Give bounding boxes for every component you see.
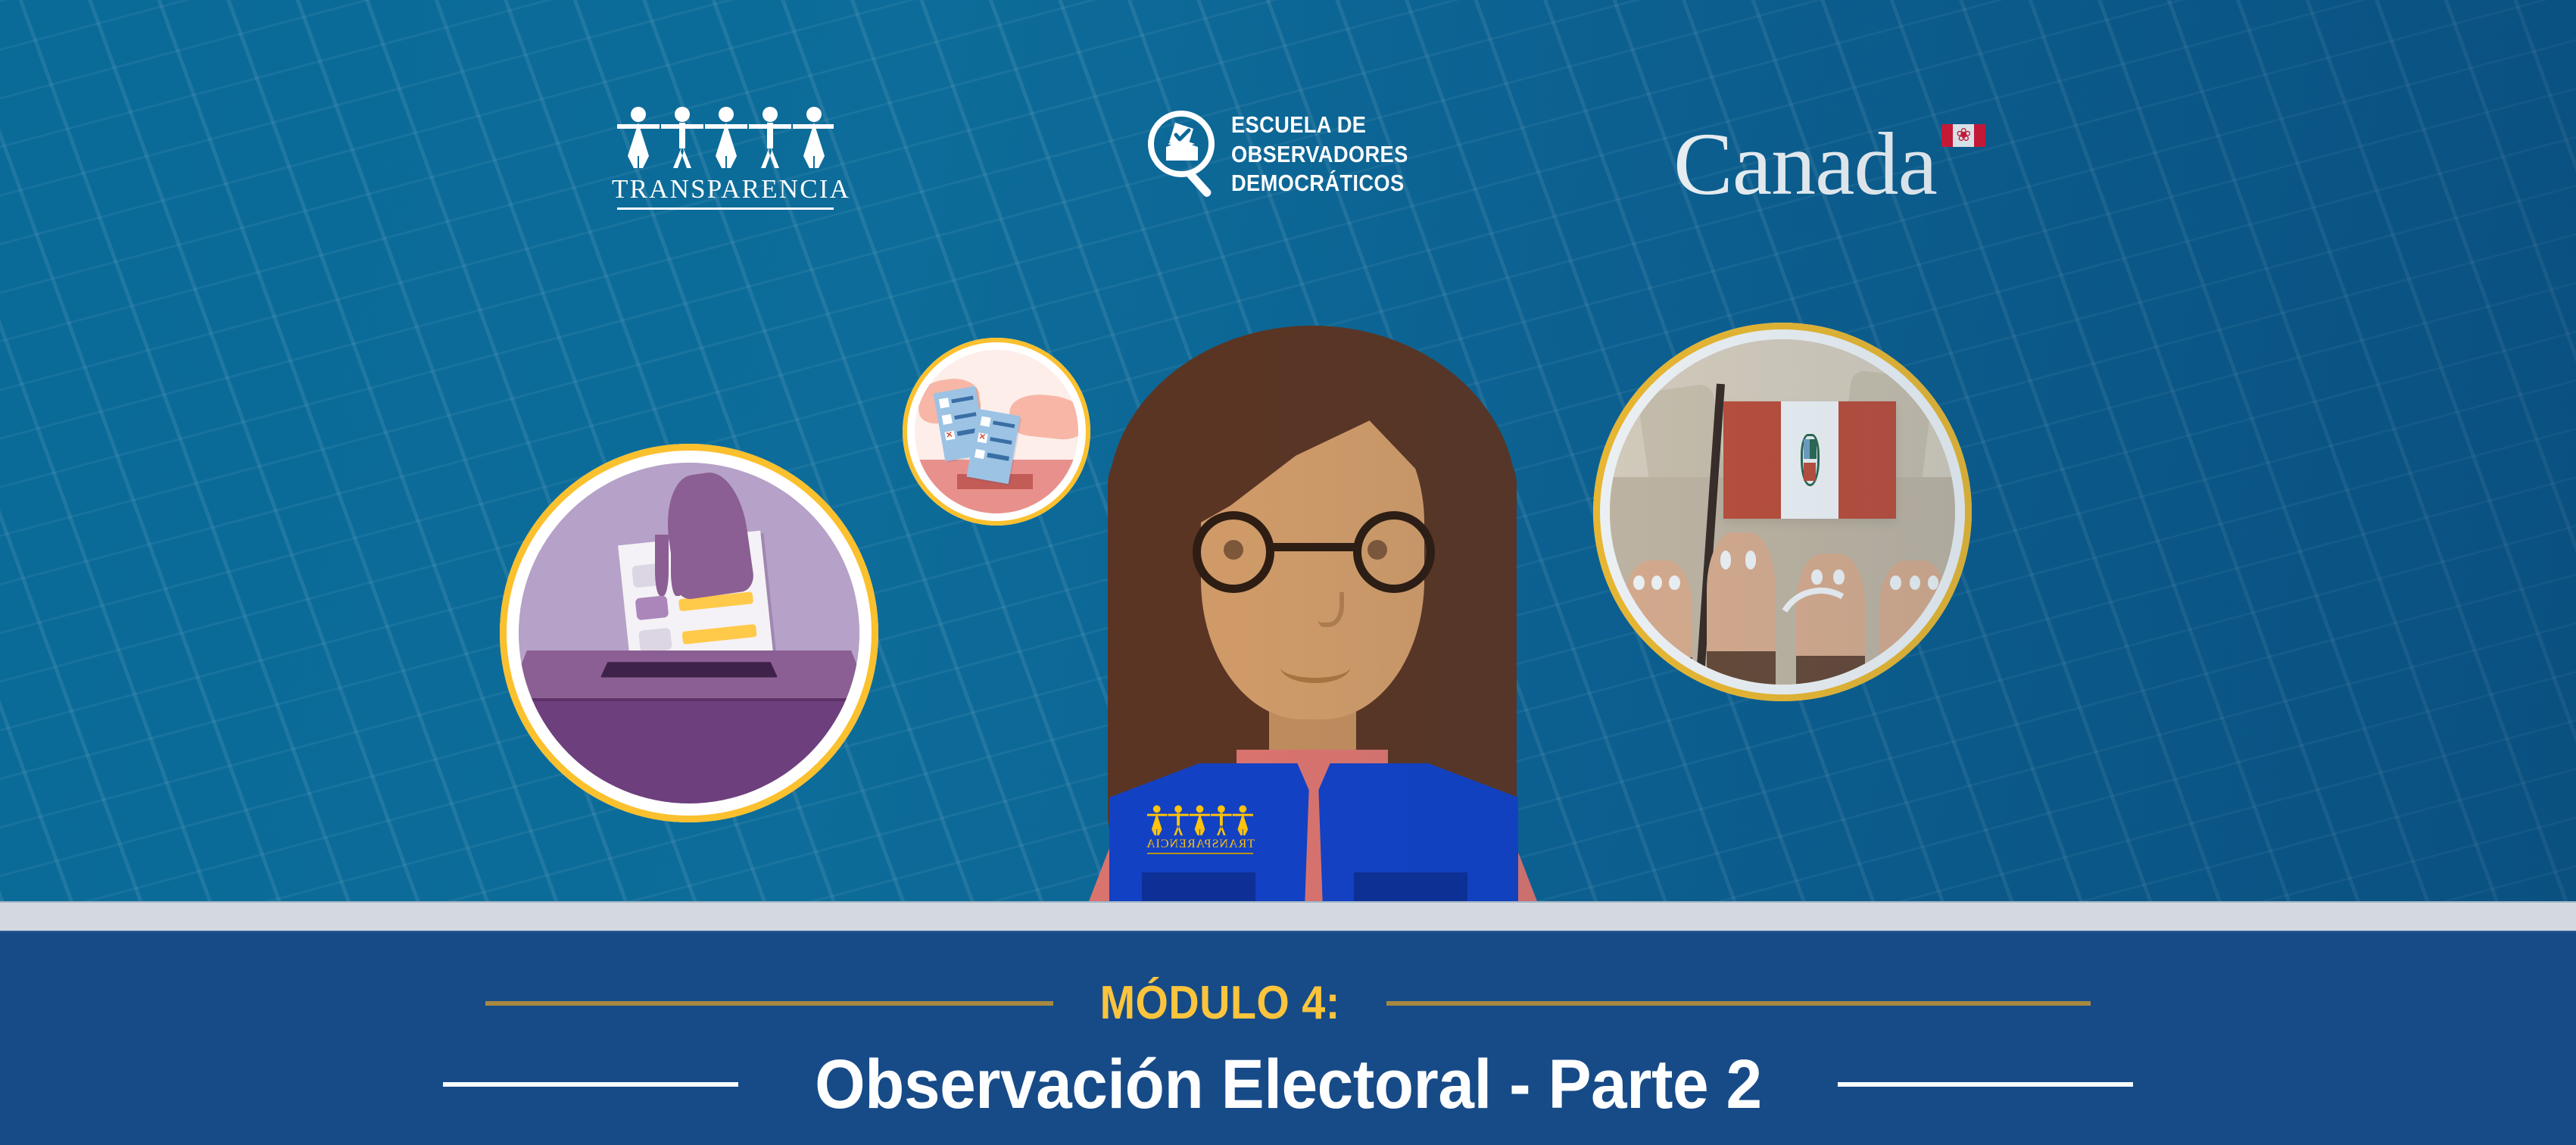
transparencia-figures-icon (612, 106, 839, 168)
course-module-banner: TRANSPARENCIA ESCUELA DE OBSERVADORE (0, 0, 2576, 1145)
eyeglasses-icon (1193, 511, 1435, 593)
people-holding-hands-icon (616, 106, 835, 168)
escuela-line-2: OBSERVADORES (1231, 140, 1408, 169)
transparencia-wordmark: TRANSPARENCIA (612, 176, 839, 202)
illustration-peru-flag (1593, 323, 1972, 701)
module-title-row: Observación Electoral - Parte 2 (0, 1039, 2576, 1130)
title-rule-right (1838, 1082, 2133, 1087)
mouth (1280, 651, 1350, 683)
canadian-flag-icon: ❀ (1941, 124, 1985, 147)
vest-badge-wordmark: TRANSPARENCIA (1144, 838, 1256, 850)
section-divider (0, 901, 2576, 932)
transparencia-underline (617, 207, 834, 210)
observer-illustration: TRANSPARENCIA (1009, 326, 1615, 901)
badge-gold-ring (1593, 323, 1972, 701)
canada-wordmark-text: Canada ❀ (1673, 120, 1937, 209)
badge-gold-ring (500, 444, 878, 822)
lens-right (1353, 511, 1435, 593)
module-label: MÓDULO 4: (1099, 980, 1339, 1027)
escuela-line-1: ESCUELA DE (1231, 111, 1408, 139)
canada-wordmark-label: Canada (1673, 114, 1937, 214)
escuela-wordmark: ESCUELA DE OBSERVADORES DEMOCRÁTICOS (1231, 111, 1408, 198)
maple-leaf-glyph: ❀ (1953, 124, 1974, 147)
people-holding-hands-icon (1146, 804, 1254, 836)
glasses-bridge (1271, 543, 1356, 551)
vest-pocket-left (1142, 872, 1255, 901)
vest-badge-underline (1147, 853, 1253, 854)
logo-transparencia: TRANSPARENCIA (612, 106, 839, 210)
escuela-line-3: DEMOCRÁTICOS (1231, 169, 1408, 198)
module-rule-right (1386, 1001, 2091, 1006)
illustration-ballot-box: ★★★★ (500, 444, 878, 822)
module-rule-left (485, 1001, 1053, 1006)
flag-band-left (1941, 124, 1953, 147)
title-rule-left (443, 1082, 738, 1087)
magnifier-ballot-box-icon (1148, 111, 1221, 198)
hero-background: TRANSPARENCIA ESCUELA DE OBSERVADORE (0, 0, 2576, 901)
lens-left (1193, 511, 1274, 593)
flag-band-right (1974, 124, 1985, 147)
logo-canada: Canada ❀ (1673, 120, 1937, 209)
module-label-row: MÓDULO 4: (0, 975, 2576, 1031)
vest-pocket-right (1354, 872, 1467, 901)
vest-badge-figures-icon (1144, 804, 1256, 836)
page-title: Observación Electoral - Parte 2 (815, 1050, 1762, 1119)
logo-escuela-observadores: ESCUELA DE OBSERVADORES DEMOCRÁTICOS (1148, 111, 1433, 198)
vest-transparencia-badge: TRANSPARENCIA (1144, 804, 1256, 854)
